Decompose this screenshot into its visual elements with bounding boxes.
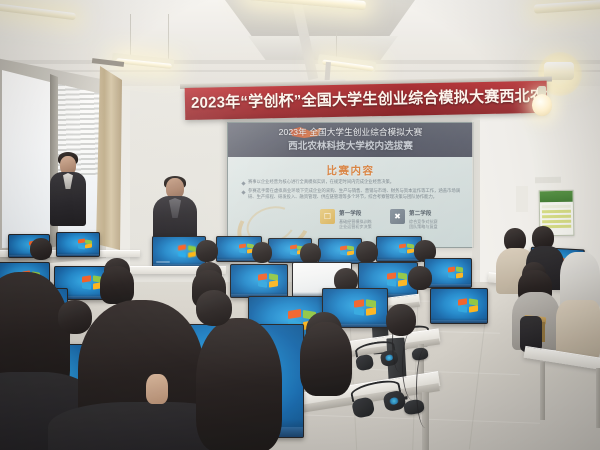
light-wire: [168, 14, 169, 60]
light-wire: [130, 14, 131, 56]
monitor-screen: [57, 233, 99, 256]
slide-card-line: 企业运营初步决策: [339, 224, 372, 229]
chair-leg: [542, 322, 545, 342]
windows-logo-icon: [258, 274, 277, 287]
notice-row: [542, 219, 571, 223]
monitor-screen: [431, 289, 487, 323]
slide-bullet-list: 赛事以企业经营为核心进行全真模拟实训，在规定时间内完成企业经营决策。 参赛选手需…: [242, 179, 460, 202]
notice-row: [542, 209, 571, 213]
windows-logo-icon: [178, 245, 196, 257]
tools-icon: ✖: [390, 209, 405, 224]
slide-title-line1: 2023年 全国大学生创业综合模拟大赛: [236, 126, 465, 139]
wall-paper-note: [516, 186, 528, 212]
slide-bullet-text: 参赛选手需在虚拟商业环境下完成企业的采购、生产与销售、营销与市场、财务与资本运作…: [248, 188, 460, 199]
wall-seam: [0, 70, 600, 72]
classroom-photo: 2023年“学创杯”全国大学生创业综合模拟大赛西北农林科技大学校内选拔赛 202…: [0, 0, 600, 450]
slide-title-line2: 西北农林科技大学校内选拔赛: [236, 140, 465, 154]
slide-bullet-item: 赛事以企业经营为核心进行全真模拟实训，在规定时间内完成企业经营决策。: [242, 179, 460, 185]
student-hair: [100, 266, 134, 304]
desk-leg: [540, 362, 545, 420]
desktop-icon: [156, 261, 170, 263]
slide-bullet-text: 赛事以企业经营为核心进行全真模拟实训，在规定时间内完成企业经营决策。: [248, 179, 460, 185]
windows-logo-icon: [399, 244, 414, 254]
slide-card-stage-one: ☐ 第一学段 基础经营模拟训练 企业运营初步决策: [320, 209, 372, 229]
windows-logo-icon: [82, 276, 101, 289]
wall-edge: [472, 120, 480, 270]
slide-section-title: 比赛内容: [228, 163, 473, 178]
student-hair: [196, 318, 282, 450]
notice-row: [542, 214, 571, 218]
slide-card-heading: 第一学段: [339, 209, 372, 217]
taskbar: [377, 259, 421, 261]
notice-body: [540, 202, 573, 229]
slide-card-stage-two: ✖ 第二学段 综合竞争对抗赛 团队策略与复盘: [390, 209, 438, 229]
windows-logo-icon: [78, 239, 92, 248]
monitor: [230, 264, 288, 298]
headset-led-ring: [388, 396, 400, 406]
student-head: [300, 243, 321, 264]
event-banner-text: 2023年“学创杯”全国大学生创业综合模拟大赛西北农林科技大学校内选拔赛: [191, 84, 533, 117]
windows-logo-icon: [448, 267, 464, 278]
taskbar: [431, 320, 487, 323]
windows-logo-icon: [387, 273, 407, 287]
student-head: [252, 242, 272, 263]
student-head: [196, 290, 232, 326]
wall-label: [535, 177, 561, 183]
headset-earcup: [355, 354, 374, 372]
taskbar: [425, 284, 471, 287]
curtain: [96, 66, 122, 252]
windows-logo-icon: [340, 246, 354, 256]
student-head: [58, 300, 92, 334]
student-head: [386, 304, 416, 336]
standing-person-left: [48, 152, 88, 226]
student-hair: [300, 322, 352, 396]
windows-logo-icon: [458, 299, 477, 313]
windows-logo-icon: [354, 300, 376, 315]
taskbar: [57, 254, 99, 256]
bullet-dot-icon: [241, 190, 245, 194]
desk-leg: [596, 368, 600, 428]
slide-bullet-item: 参赛选手需在虚拟商业环境下完成企业的采购、生产与销售、营销与市场、财务与资本运作…: [242, 188, 460, 199]
slide-card-heading: 第二学段: [409, 209, 438, 217]
student-head: [30, 238, 52, 260]
lamp-bulb: [532, 94, 552, 116]
hanging-lamp: [530, 86, 554, 116]
speaker-presenter: [152, 178, 198, 240]
student-head: [356, 241, 378, 263]
student-hand: [146, 374, 168, 404]
notice-header: [540, 191, 573, 203]
monitor-screen: [231, 265, 287, 297]
document-icon: ☐: [320, 209, 335, 224]
monitor: [430, 288, 488, 324]
monitor: [56, 232, 100, 257]
notice-row: [542, 204, 571, 208]
slide-card-line: 团队策略与复盘: [409, 224, 438, 229]
projection-screen: 2023年 全国大学生创业综合模拟大赛 西北农林科技大学校内选拔赛 比赛内容 赛…: [227, 122, 474, 248]
ceiling-beam: [0, 60, 600, 64]
monitor-screen: [425, 259, 471, 287]
cable: [416, 348, 435, 428]
window-pane: [2, 70, 50, 248]
monitor-screen: [319, 239, 361, 263]
bullet-dot-icon: [241, 181, 245, 185]
presentation-slide: 2023年 全国大学生创业综合模拟大赛 西北农林科技大学校内选拔赛 比赛内容 赛…: [228, 123, 473, 247]
student-head: [196, 240, 218, 262]
student-head: [408, 266, 432, 290]
